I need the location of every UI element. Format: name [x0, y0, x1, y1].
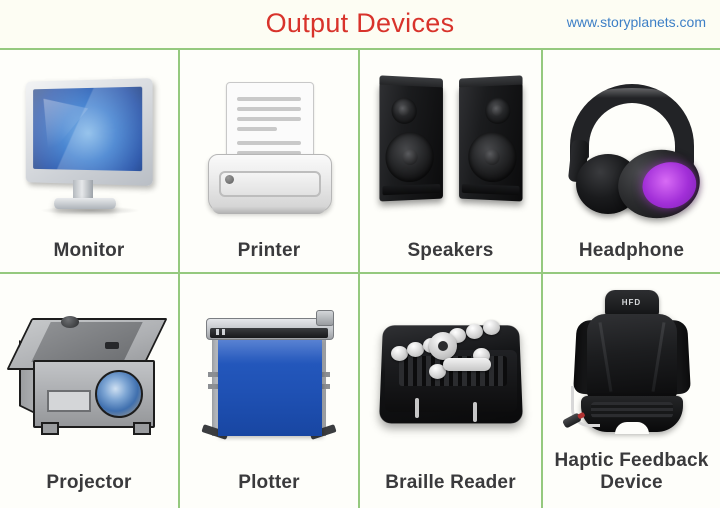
projector-rear-foot	[133, 422, 151, 435]
speaker-right-tweeter	[485, 97, 510, 124]
braille-button-1[interactable]	[391, 346, 408, 361]
headphone-artwork	[543, 50, 720, 240]
haptic-seat-notch	[615, 422, 649, 434]
braille-button-5[interactable]	[466, 324, 483, 339]
printer-paper	[226, 82, 314, 162]
grid-cell-monitor[interactable]: Monitor	[0, 50, 180, 274]
speaker-left-tweeter	[391, 97, 416, 124]
plotter-control-knob[interactable]	[316, 310, 334, 326]
device-label-headphone: Headphone	[543, 240, 720, 272]
speaker-right-base	[461, 184, 519, 195]
headphone-glowing-ring	[638, 158, 699, 213]
devices-grid: Monitor	[0, 48, 720, 508]
device-label-haptic-feedback-device: Haptic Feedback Device	[543, 450, 720, 508]
haptic-brand-logo: HFD	[605, 298, 659, 307]
plotter-paper-roll	[218, 338, 322, 436]
grid-cell-speakers[interactable]: Speakers	[360, 50, 543, 274]
speaker-left-top	[379, 75, 442, 87]
output-devices-poster: Output Devices www.storyplanets.com Moni…	[0, 0, 720, 506]
braille-right-slot	[473, 402, 477, 422]
haptic-feedback-device-artwork: HFD	[543, 274, 720, 450]
printer-artwork	[180, 50, 358, 240]
projector-top-inset	[31, 322, 143, 362]
device-label-speakers: Speakers	[360, 240, 541, 272]
device-label-plotter: Plotter	[180, 472, 358, 508]
grid-cell-headphone[interactable]: Headphone	[543, 50, 720, 274]
grid-cell-plotter[interactable]: Plotter	[180, 274, 360, 508]
grid-cell-haptic-feedback-device[interactable]: HFD Haptic Feedback Device	[543, 274, 720, 508]
speakers-icon	[373, 70, 529, 220]
device-label-projector: Projector	[0, 472, 178, 508]
haptic-seat-ribbing	[591, 402, 673, 418]
projector-icon	[11, 298, 167, 448]
projector-front-foot	[41, 422, 59, 435]
projector-artwork	[0, 274, 178, 472]
device-label-braille-reader: Braille Reader	[360, 472, 541, 508]
poster-header: Output Devices www.storyplanets.com	[0, 0, 720, 48]
printer-icon	[194, 70, 344, 220]
speaker-left	[379, 82, 442, 201]
plotter-icon	[194, 298, 344, 448]
speaker-right-top	[459, 75, 522, 87]
speaker-right	[459, 82, 522, 201]
projector-top-button[interactable]	[105, 342, 119, 349]
plotter-paper-highlight	[218, 338, 322, 364]
haptic-power-plug	[561, 412, 581, 428]
device-label-printer: Printer	[180, 240, 358, 272]
braille-reader-icon	[373, 298, 529, 448]
speaker-right-woofer	[468, 132, 516, 183]
braille-navigation-pad[interactable]	[429, 332, 457, 360]
monitor-artwork	[0, 50, 178, 240]
braille-space-bar[interactable]	[443, 358, 491, 371]
braille-left-slot	[415, 398, 419, 418]
projector-vent	[47, 390, 91, 412]
monitor-icon	[14, 70, 164, 220]
monitor-bezel	[26, 78, 153, 186]
plotter-cutting-rail	[210, 328, 328, 338]
grid-cell-printer[interactable]: Printer	[180, 50, 360, 274]
printer-base	[212, 206, 326, 214]
plotter-indicator-two	[222, 329, 225, 335]
projector-lens	[95, 370, 143, 418]
braille-reader-artwork	[360, 274, 541, 472]
printer-power-button[interactable]	[225, 175, 234, 184]
printer-body	[208, 154, 332, 212]
printer-output-tray	[219, 171, 321, 197]
headphone-icon	[554, 70, 710, 220]
braille-button-6[interactable]	[483, 320, 500, 335]
monitor-screen-glare	[43, 98, 88, 157]
grid-cell-braille-reader[interactable]: Braille Reader	[360, 274, 543, 508]
device-label-monitor: Monitor	[0, 240, 178, 272]
projector-front-panel	[33, 360, 155, 428]
speaker-left-woofer	[385, 132, 433, 183]
monitor-screen	[33, 87, 142, 171]
speaker-left-base	[382, 184, 440, 195]
projector-focus-dial[interactable]	[61, 316, 79, 328]
plotter-indicator-one	[216, 329, 219, 335]
grid-cell-projector[interactable]: Projector	[0, 274, 180, 508]
monitor-stand-base	[54, 198, 116, 209]
speakers-artwork	[360, 50, 541, 240]
haptic-feedback-device-icon: HFD	[557, 286, 707, 438]
website-url: www.storyplanets.com	[567, 14, 706, 30]
headphone-headband-highlight	[588, 88, 676, 98]
braille-button-2[interactable]	[407, 342, 424, 357]
plotter-artwork	[180, 274, 358, 472]
